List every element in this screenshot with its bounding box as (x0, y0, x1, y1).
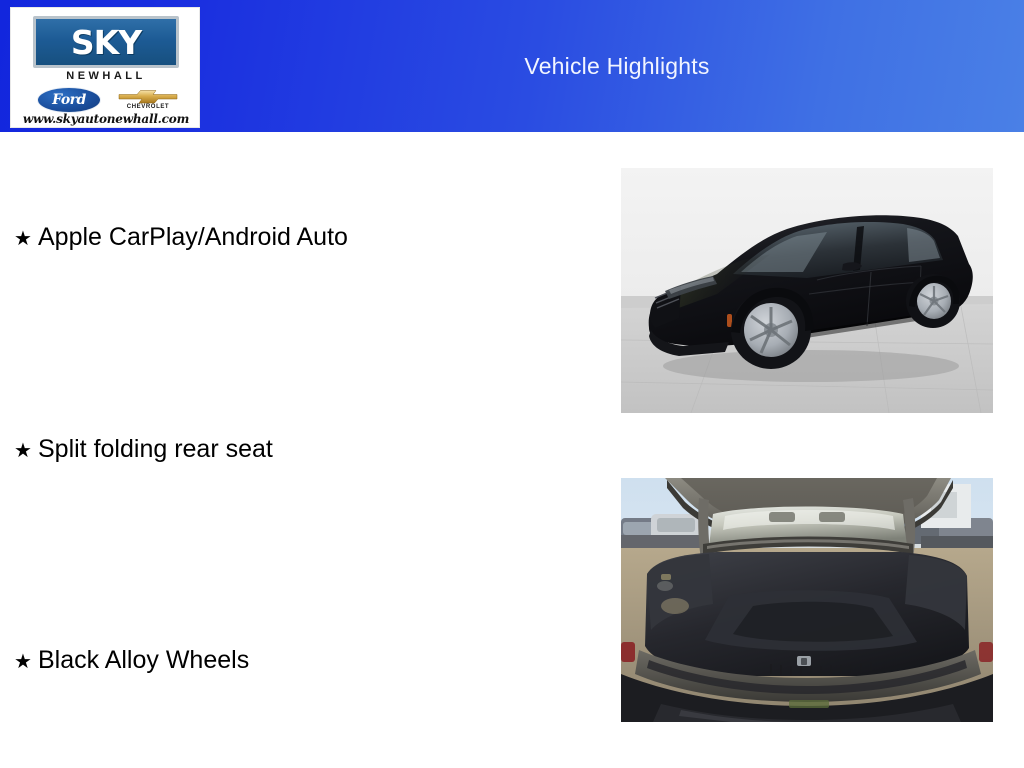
chevrolet-badge: CHEVROLET (115, 86, 181, 114)
list-item: ★ Black Alloy Wheels (14, 647, 249, 675)
star-bullet-icon: ★ (14, 651, 38, 671)
sky-brand-text: SKY (71, 26, 141, 59)
slide-root: Vehicle Highlights SKY NEWHALL Ford (0, 0, 1024, 768)
sky-badge: SKY (33, 16, 179, 68)
franchise-badges: Ford CHEVROLET (11, 86, 200, 114)
highlights-list: ★ Apple CarPlay/Android Auto ★ Split fol… (0, 132, 610, 768)
list-item: ★ Apple CarPlay/Android Auto (14, 224, 348, 252)
star-bullet-icon: ★ (14, 440, 38, 460)
dealer-logo[interactable]: SKY NEWHALL Ford (10, 7, 200, 128)
dealer-website-text: www.skyautonewhall.com (11, 112, 200, 126)
vehicle-exterior-photo (621, 168, 993, 413)
vehicle-trunk-photo (621, 478, 993, 722)
highlight-label-3: Black Alloy Wheels (38, 647, 249, 675)
chevrolet-bowtie-icon (117, 89, 179, 104)
ford-wordmark: Ford (52, 92, 86, 108)
chevrolet-wordmark: CHEVROLET (115, 104, 181, 110)
star-bullet-icon: ★ (14, 228, 38, 248)
dealer-logo-artwork: SKY NEWHALL Ford (11, 8, 200, 128)
list-item: ★ Split folding rear seat (14, 436, 273, 464)
ford-oval-icon: Ford (37, 87, 101, 113)
dealer-location-text: NEWHALL (11, 70, 200, 82)
page-title: Vehicle Highlights (210, 0, 1024, 132)
highlight-label-2: Split folding rear seat (38, 436, 273, 464)
highlight-label-1: Apple CarPlay/Android Auto (38, 224, 348, 252)
